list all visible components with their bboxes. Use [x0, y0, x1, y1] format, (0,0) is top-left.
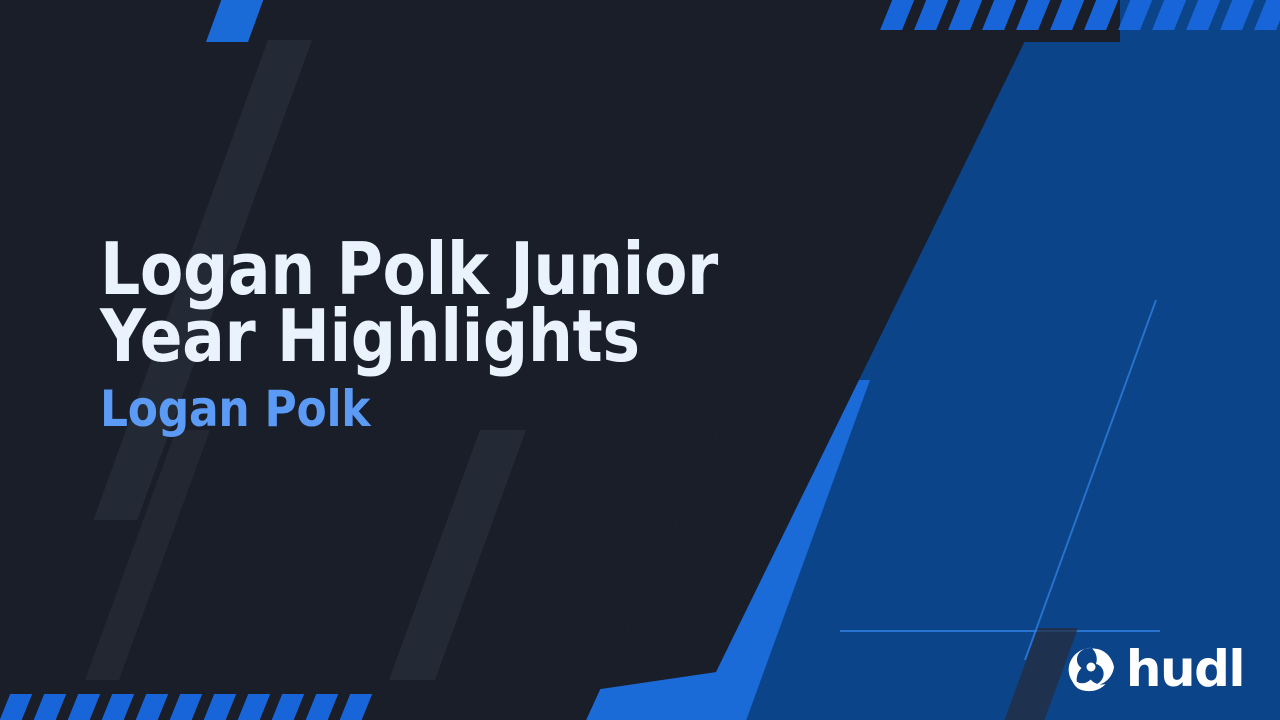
athlete-name: Logan Polk	[100, 384, 804, 434]
hudl-logo: hudl	[1066, 644, 1244, 694]
page-title: Logan Polk Junior Year Highlights	[100, 236, 804, 370]
highlight-title-card: Logan Polk Junior Year Highlights Logan …	[0, 0, 1280, 720]
hudl-wordmark: hudl	[1126, 644, 1244, 694]
hudl-triskelion-icon	[1066, 645, 1116, 693]
hairline-accent-horizontal	[840, 630, 1160, 632]
hash-stripe-band-top-right	[872, 0, 1280, 30]
hash-stripe-band-bottom-left	[0, 694, 380, 720]
title-block: Logan Polk Junior Year Highlights Logan …	[100, 236, 900, 434]
